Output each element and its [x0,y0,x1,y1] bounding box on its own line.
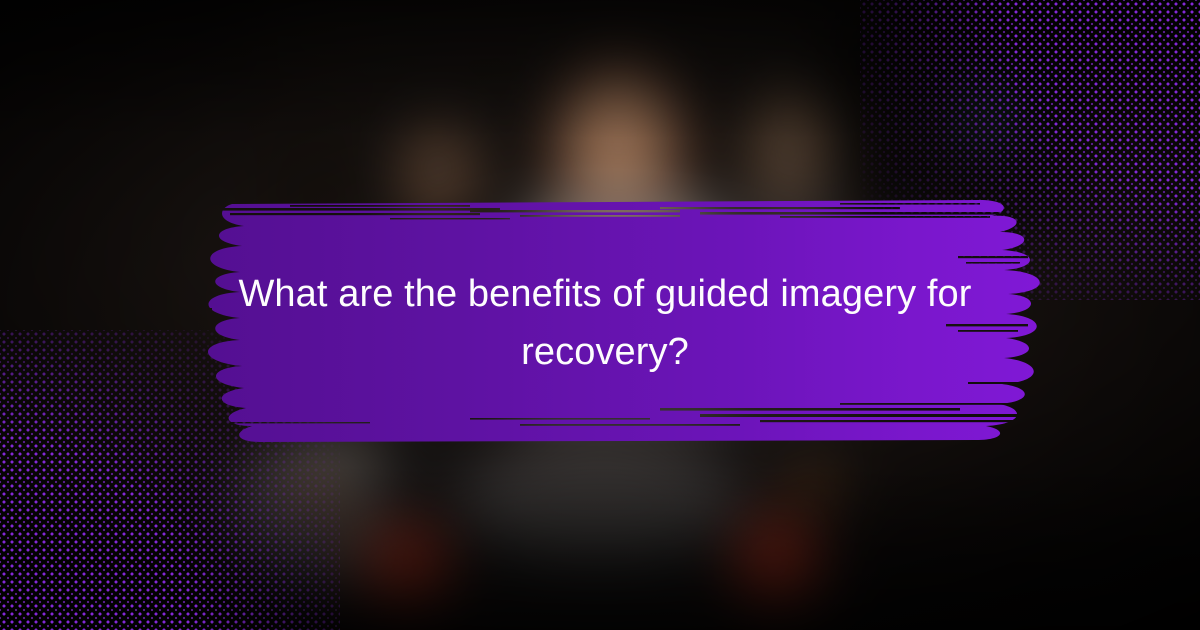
page-title: What are the benefits of guided imagery … [180,265,1030,381]
social-share-card: What are the benefits of guided imagery … [0,0,1200,630]
